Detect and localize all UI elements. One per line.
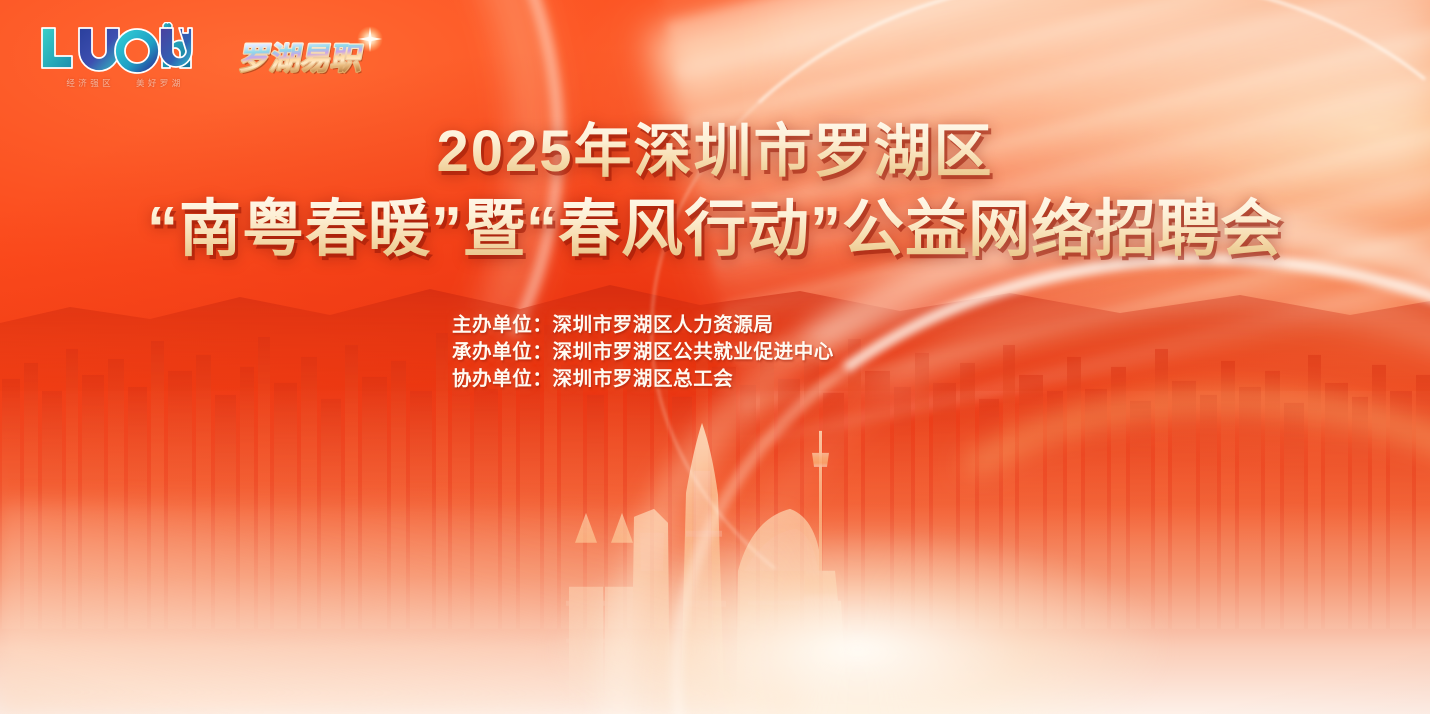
- title-block: 2025年深圳市罗湖区 “南粤春暖”暨“春风行动”公益网络招聘会: [0, 120, 1430, 264]
- sparkle-icon: [357, 26, 383, 52]
- mid-rise-cluster-right: [860, 695, 1054, 714]
- luohu-yizhi-logo[interactable]: 罗湖易职 罗湖易职 罗湖易职: [234, 26, 394, 86]
- recruitment-banner: 经济强区 美好罗湖: [0, 0, 1430, 714]
- logo-bar: 经济强区 美好罗湖: [38, 22, 394, 89]
- luohu-logo[interactable]: 经济强区 美好罗湖: [38, 22, 208, 89]
- title-line-2: “南粤春暖”暨“春风行动”公益网络招聘会: [26, 195, 1404, 264]
- luohu-tagline: 经济强区 美好罗湖: [38, 77, 208, 89]
- svg-text:罗湖易职: 罗湖易职: [237, 41, 366, 77]
- yizhi-wordmark-glyphs: 罗湖易职 罗湖易职 罗湖易职: [237, 41, 368, 79]
- tapered-tower: [629, 509, 672, 714]
- luohu-tagline-right: 美好罗湖: [136, 77, 184, 89]
- title-line-1: 2025年深圳市罗湖区: [26, 120, 1404, 185]
- luohu-tagline-left: 经济强区: [66, 77, 114, 89]
- organizer-support: 协办单位：深圳市罗湖区总工会: [452, 366, 834, 393]
- organizer-host: 主办单位：深圳市罗湖区人力资源局: [452, 312, 834, 339]
- organizer-operator: 承办单位：深圳市罗湖区公共就业促进中心: [452, 339, 834, 366]
- organizer-block: 主办单位：深圳市罗湖区人力资源局 承办单位：深圳市罗湖区公共就业促进中心 协办单…: [452, 312, 834, 393]
